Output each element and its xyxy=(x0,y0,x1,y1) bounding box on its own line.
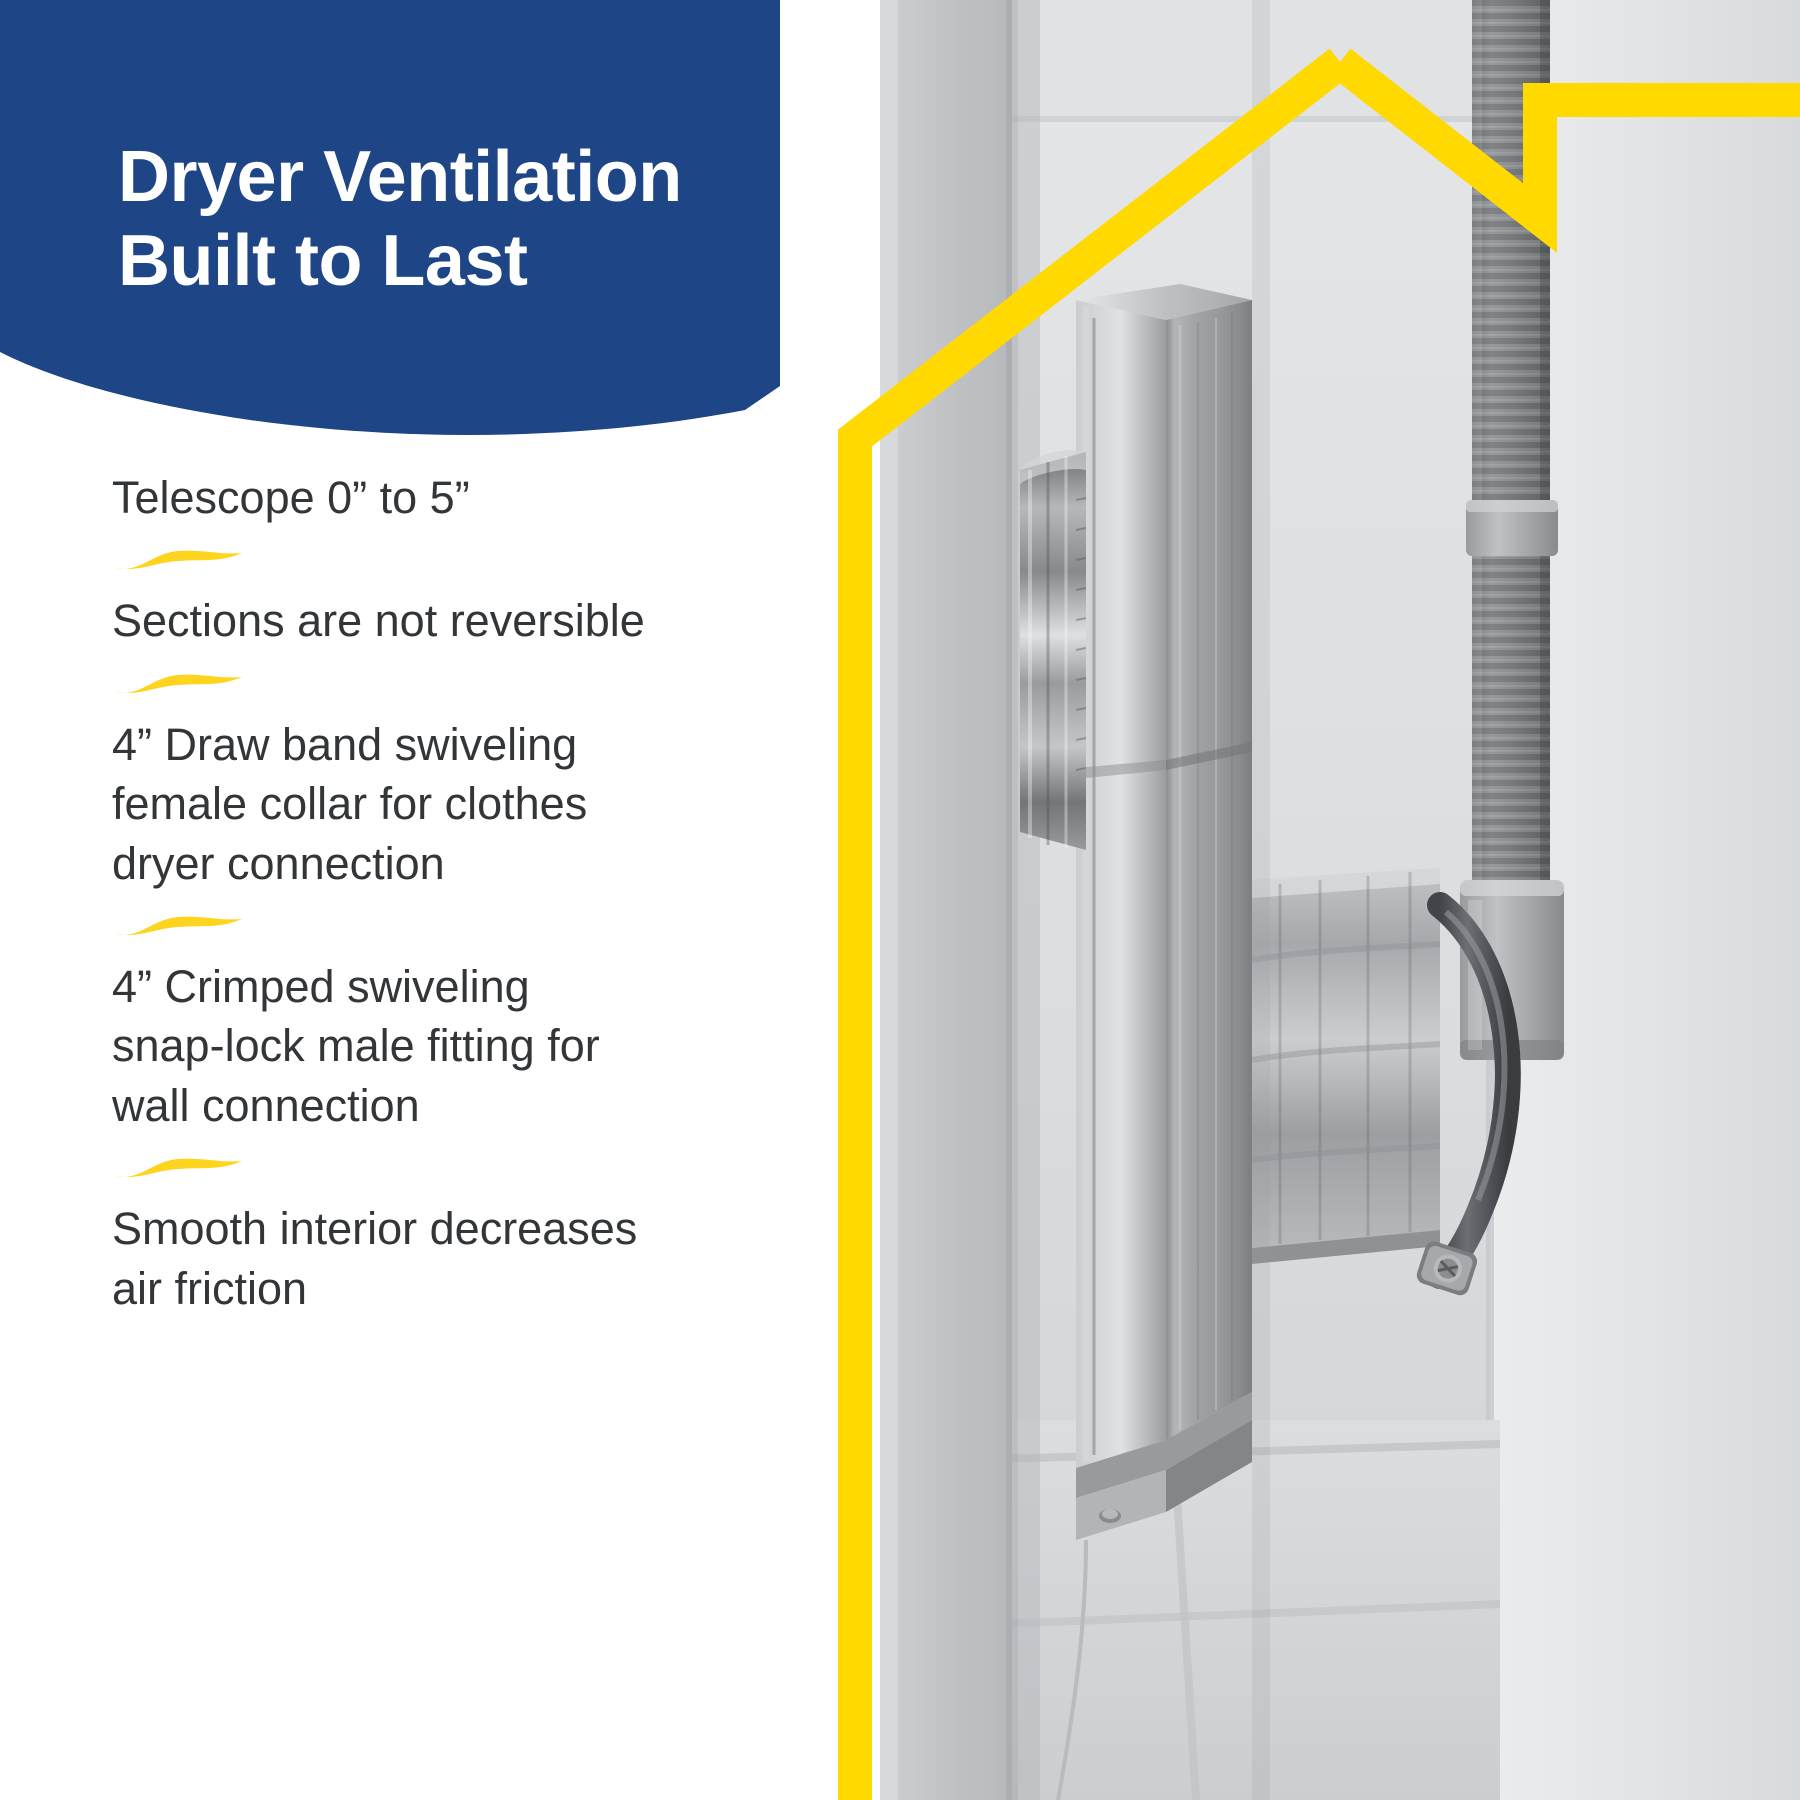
product-photo xyxy=(880,0,1800,1800)
wave-divider-4 xyxy=(112,1135,712,1199)
wave-divider-2 xyxy=(112,651,712,715)
feature-item-1: Telescope 0” to 5” xyxy=(112,468,712,527)
feature-3-line-3: dryer connection xyxy=(112,834,712,893)
feature-1-line-1: Telescope 0” to 5” xyxy=(112,468,712,527)
title-line-2: Built to Last xyxy=(118,220,818,304)
feature-4-line-3: wall connection xyxy=(112,1076,712,1135)
infographic-canvas: Dryer Ventilation Built to Last Telescop… xyxy=(0,0,1800,1800)
page-title: Dryer Ventilation Built to Last xyxy=(118,136,818,303)
feature-list: Telescope 0” to 5” Sections are not reve… xyxy=(112,468,712,1318)
feature-item-4: 4” Crimped swiveling snap-lock male fitt… xyxy=(112,957,712,1135)
feature-5-line-2: air friction xyxy=(112,1259,712,1318)
feature-item-5: Smooth interior decreases air friction xyxy=(112,1199,712,1318)
wave-divider-1 xyxy=(112,527,712,591)
title-line-1: Dryer Ventilation xyxy=(118,136,818,220)
feature-5-line-1: Smooth interior decreases xyxy=(112,1199,712,1258)
feature-item-3: 4” Draw band swiveling female collar for… xyxy=(112,715,712,893)
feature-2-line-1: Sections are not reversible xyxy=(112,591,712,650)
feature-4-line-1: 4” Crimped swiveling xyxy=(112,957,712,1016)
wave-divider-3 xyxy=(112,893,712,957)
feature-3-line-2: female collar for clothes xyxy=(112,774,712,833)
feature-3-line-1: 4” Draw band swiveling xyxy=(112,715,712,774)
feature-4-line-2: snap-lock male fitting for xyxy=(112,1016,712,1075)
feature-item-2: Sections are not reversible xyxy=(112,591,712,650)
